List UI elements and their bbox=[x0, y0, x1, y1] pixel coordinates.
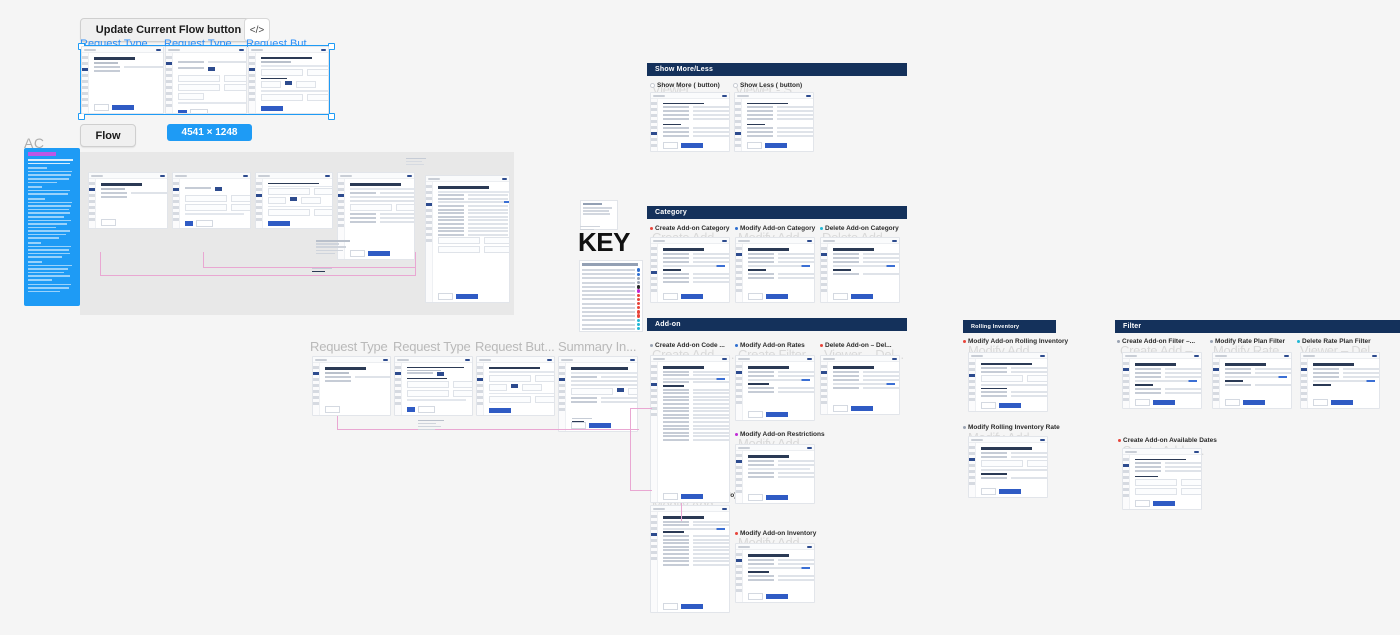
flow-mock-window[interactable] bbox=[255, 172, 333, 229]
section-mock-window[interactable] bbox=[735, 543, 815, 603]
frame-dot bbox=[1210, 340, 1213, 343]
frame-dot bbox=[735, 227, 738, 230]
section-banner-label: Filter bbox=[1123, 323, 1141, 330]
frame-label-text: Delete Rate Plan Filter bbox=[1302, 338, 1371, 345]
mock-window[interactable] bbox=[165, 46, 247, 114]
frame-label[interactable]: Delete Add-on Category bbox=[820, 225, 899, 232]
section-mock-window-tall[interactable] bbox=[650, 505, 730, 613]
flow-wire bbox=[337, 429, 639, 430]
section-mock-window[interactable] bbox=[735, 355, 815, 421]
section-banner-filter: Filter bbox=[1115, 320, 1400, 333]
section-mock-window-tall[interactable] bbox=[650, 355, 730, 503]
section-mock-window[interactable] bbox=[968, 436, 1048, 498]
section-banner-show-more-less: Show More/Less bbox=[647, 63, 907, 76]
frame-label[interactable]: Modify Add-on Restrictions bbox=[735, 431, 825, 438]
selection-dimensions-label: 4541 × 1248 bbox=[182, 127, 238, 138]
flow-mock-window[interactable] bbox=[88, 172, 168, 229]
flow-wire bbox=[630, 408, 631, 490]
flow-note bbox=[418, 420, 448, 436]
frame-dot bbox=[820, 344, 823, 347]
flow-wire bbox=[337, 416, 338, 430]
frame-label-text: Create Add-on Category bbox=[655, 225, 730, 232]
bottom-mock-window[interactable] bbox=[394, 356, 473, 416]
flow-wire bbox=[630, 408, 652, 409]
frame-label[interactable]: Modify Add-on Category bbox=[735, 225, 815, 232]
frame-label[interactable]: Show More ( button) bbox=[650, 82, 720, 89]
section-banner-label: Show More/Less bbox=[655, 66, 713, 73]
frame-label[interactable]: Create Add-on Category bbox=[650, 225, 730, 232]
flow-mock-window-tall[interactable] bbox=[425, 175, 510, 303]
frame-label[interactable]: Modify Add-on Rolling Inventory bbox=[963, 338, 1068, 345]
flow-mock-window[interactable] bbox=[172, 172, 251, 229]
section-banner-category: Category bbox=[647, 206, 907, 219]
flow-button[interactable]: Flow bbox=[80, 124, 136, 147]
section-banner-add-on: Add-on bbox=[647, 318, 907, 331]
section-mock-window[interactable] bbox=[1300, 352, 1380, 409]
frame-label[interactable]: Delete Add-on – Del... bbox=[820, 342, 892, 349]
frame-label-text: Modify Rolling Inventory Rate bbox=[968, 424, 1060, 431]
frame-label-text: Delete Add-on Category bbox=[825, 225, 899, 232]
bottom-flow-label-2[interactable]: Request But... bbox=[475, 339, 555, 354]
update-current-flow-label: Update Current Flow button bbox=[96, 24, 241, 36]
bottom-mock-window[interactable] bbox=[476, 356, 555, 416]
frame-label[interactable]: Create Add-on Available Dates bbox=[1118, 437, 1217, 444]
frame-dot bbox=[1297, 340, 1300, 343]
bottom-flow-label-3[interactable]: Summary In... bbox=[558, 339, 636, 354]
section-mock-window[interactable] bbox=[1122, 448, 1202, 510]
frame-dot bbox=[963, 340, 966, 343]
section-mock-window[interactable] bbox=[650, 237, 730, 303]
flow-note bbox=[316, 240, 354, 262]
frame-dot bbox=[650, 83, 655, 88]
section-mock-window[interactable] bbox=[1122, 352, 1202, 409]
flow-wire bbox=[415, 252, 416, 276]
frame-label-text: Show More ( button) bbox=[657, 82, 720, 89]
mock-rail[interactable] bbox=[249, 53, 256, 114]
mock-window[interactable] bbox=[81, 46, 164, 114]
frame-label[interactable]: Delete Rate Plan Filter bbox=[1297, 338, 1371, 345]
design-canvas[interactable]: Update Current Flow button </> Flow 4541… bbox=[0, 0, 1400, 635]
flow-wire bbox=[203, 252, 204, 268]
selection-dimensions-badge: 4541 × 1248 bbox=[167, 124, 252, 141]
frame-dot bbox=[650, 344, 653, 347]
flow-button-label: Flow bbox=[95, 130, 120, 142]
frame-label-text: Modify Add-on Restrictions bbox=[740, 431, 825, 438]
section-mock-window[interactable] bbox=[734, 92, 814, 152]
section-mock-window[interactable] bbox=[735, 444, 815, 504]
bottom-mock-window[interactable] bbox=[558, 356, 638, 432]
frame-label-text: Modify Add-on Rolling Inventory bbox=[968, 338, 1068, 345]
frame-label[interactable]: Create Add-on Code ... bbox=[650, 342, 725, 349]
frame-label[interactable]: Modify Add-on Inventory bbox=[735, 530, 816, 537]
flow-wire bbox=[100, 275, 416, 276]
frame-dot bbox=[1118, 439, 1121, 442]
section-banner-label: Add-on bbox=[655, 321, 681, 328]
frame-dot bbox=[733, 83, 738, 88]
frame-label-text: Modify Add-on Rates bbox=[740, 342, 805, 349]
frame-label[interactable]: Create Add-on Filter –... bbox=[1117, 338, 1195, 345]
flow-wire bbox=[203, 267, 416, 268]
frame-label-text: Create Add-on Available Dates bbox=[1123, 437, 1217, 444]
section-mock-window[interactable] bbox=[820, 237, 900, 303]
flow-label-note bbox=[572, 418, 594, 427]
code-icon: </> bbox=[250, 25, 264, 36]
flow-label-note bbox=[312, 268, 334, 278]
section-banner-label: Rolling Inventory bbox=[971, 324, 1019, 330]
section-mock-window[interactable] bbox=[1212, 352, 1292, 409]
flow-wire bbox=[681, 503, 682, 521]
flow-corner-note bbox=[406, 158, 426, 168]
section-banner-rolling-inventory: Rolling Inventory bbox=[963, 320, 1056, 333]
section-banner-label: Category bbox=[655, 209, 687, 216]
frame-label[interactable]: Modify Rolling Inventory Rate bbox=[963, 424, 1060, 431]
frame-dot bbox=[1117, 340, 1120, 343]
mock-rail[interactable] bbox=[82, 53, 89, 114]
bottom-mock-window[interactable] bbox=[312, 356, 391, 416]
frame-label[interactable]: Show Less ( button) bbox=[733, 82, 802, 89]
mock-window[interactable] bbox=[248, 46, 329, 114]
frame-label-text: Modify Rate Plan Filter bbox=[1215, 338, 1285, 345]
key-title: KEY bbox=[578, 227, 630, 258]
section-mock-window[interactable] bbox=[650, 92, 730, 152]
bottom-flow-label-1[interactable]: Request Type bbox=[393, 339, 471, 354]
flow-wire bbox=[630, 490, 652, 491]
key-legend-table[interactable] bbox=[579, 260, 643, 332]
flow-wire bbox=[100, 252, 101, 276]
mock-rail[interactable] bbox=[166, 53, 173, 114]
frame-label-text: Create Add-on Code ... bbox=[655, 342, 725, 349]
frame-dot bbox=[735, 433, 738, 436]
ac-criteria-card[interactable] bbox=[24, 148, 80, 306]
frame-label[interactable]: Modify Rate Plan Filter bbox=[1210, 338, 1285, 345]
frame-label-text: Modify Add-on Inventory bbox=[740, 530, 816, 537]
frame-dot bbox=[735, 532, 738, 535]
frame-label-text: Show Less ( button) bbox=[740, 82, 802, 89]
section-mock-window[interactable] bbox=[820, 355, 900, 415]
ac-card-tag bbox=[28, 152, 56, 156]
frame-label-text: Delete Add-on – Del... bbox=[825, 342, 892, 349]
frame-label[interactable]: Modify Add-on Rates bbox=[735, 342, 805, 349]
bottom-flow-label-0[interactable]: Request Type bbox=[310, 339, 388, 354]
section-mock-window[interactable] bbox=[735, 237, 815, 303]
frame-dot bbox=[735, 344, 738, 347]
frame-dot bbox=[963, 426, 966, 429]
frame-label-text: Modify Add-on Category bbox=[740, 225, 815, 232]
frame-label-text: Create Add-on Filter –... bbox=[1122, 338, 1195, 345]
frame-dot bbox=[650, 227, 653, 230]
frame-dot bbox=[820, 227, 823, 230]
section-mock-window[interactable] bbox=[968, 352, 1048, 412]
